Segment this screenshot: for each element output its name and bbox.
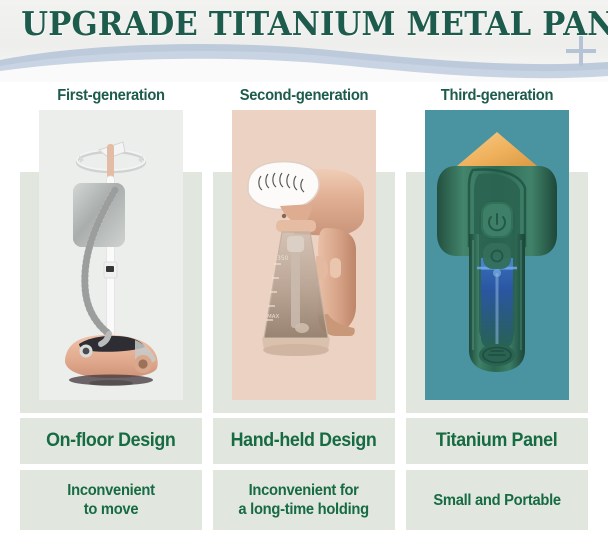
- page-header: UPGRADE TITANIUM METAL PANEL: [0, 0, 608, 82]
- design-label-card: On-floor Design: [20, 418, 202, 464]
- wave-decoration: [0, 38, 608, 82]
- svg-text:350: 350: [277, 255, 289, 262]
- product-card: [20, 110, 202, 413]
- column-first-generation: First-generation: [20, 86, 202, 556]
- design-label: Titanium Panel: [436, 430, 557, 452]
- product-photo-titanium-panel-steamer: [425, 110, 569, 400]
- column-heading: Second-generation: [218, 86, 391, 108]
- column-heading: Third-generation: [411, 86, 584, 108]
- note-card: Inconvenient for a long-time holding: [213, 470, 395, 530]
- product-photo-upright-steamer: [39, 110, 183, 400]
- column-second-generation: Second-generation: [213, 86, 395, 556]
- product-card: 350 MAX: [213, 110, 395, 413]
- note-card: Inconvenient to move: [20, 470, 202, 530]
- svg-text:MAX: MAX: [267, 314, 280, 320]
- plus-icon: [566, 36, 596, 66]
- column-third-generation: Third-generation: [406, 86, 588, 556]
- product-photo-handheld-steamer: 350 MAX: [232, 110, 376, 400]
- note-text: Small and Portable: [433, 491, 560, 510]
- product-card: [406, 110, 588, 413]
- design-label: Hand-held Design: [231, 430, 377, 452]
- note-text: Inconvenient to move: [67, 481, 154, 519]
- design-label-card: Titanium Panel: [406, 418, 588, 464]
- design-label: On-floor Design: [46, 430, 175, 452]
- note-text: Inconvenient for a long-time holding: [239, 481, 369, 519]
- design-label-card: Hand-held Design: [213, 418, 395, 464]
- column-heading: First-generation: [25, 86, 198, 108]
- comparison-columns: First-generation: [0, 86, 608, 556]
- note-card: Small and Portable: [406, 470, 588, 530]
